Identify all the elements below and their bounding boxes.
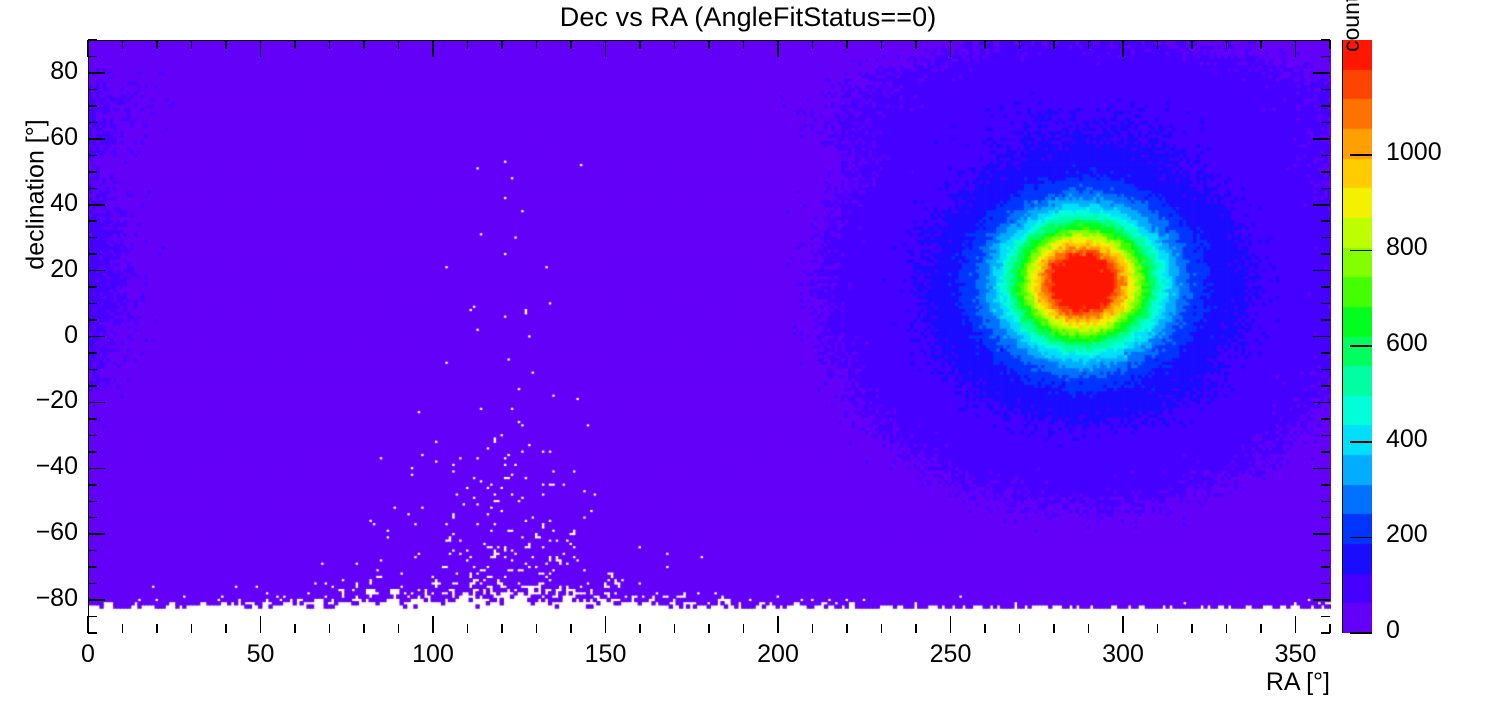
x-minor-tick bbox=[1157, 624, 1159, 633]
y-minor-tick-right bbox=[1321, 517, 1330, 519]
x-minor-tick bbox=[156, 624, 158, 633]
y-minor-tick-right bbox=[1321, 352, 1330, 354]
x-minor-tick bbox=[398, 624, 400, 633]
y-axis-label: −80 bbox=[8, 584, 78, 613]
y-minor-tick-right bbox=[1321, 237, 1330, 239]
x-minor-tick-top bbox=[225, 40, 227, 49]
x-minor-tick bbox=[191, 624, 193, 633]
y-minor-tick-right bbox=[1321, 253, 1330, 255]
x-minor-tick bbox=[743, 624, 745, 633]
x-minor-tick-top bbox=[1088, 40, 1090, 49]
x-minor-tick bbox=[1260, 624, 1262, 633]
x-axis-label: 300 bbox=[1063, 640, 1183, 669]
page-title: Dec vs RA (AngleFitStatus==0) bbox=[0, 2, 1496, 33]
x-axis-label: 250 bbox=[891, 640, 1011, 669]
x-minor-tick bbox=[708, 624, 710, 633]
y-minor-tick-right bbox=[1321, 220, 1330, 222]
colorbar-border bbox=[1342, 40, 1372, 633]
x-minor-tick-top bbox=[674, 40, 676, 49]
x-minor-tick-top bbox=[1329, 40, 1331, 49]
y-minor-tick bbox=[88, 122, 97, 124]
y-minor-tick bbox=[88, 39, 97, 41]
x-minor-tick-top bbox=[915, 40, 917, 49]
x-minor-tick-top bbox=[156, 40, 158, 49]
y-major-tick-right bbox=[1313, 204, 1330, 206]
y-major-tick-right bbox=[1313, 533, 1330, 535]
x-axis-label: 100 bbox=[373, 640, 493, 669]
x-minor-tick-top bbox=[294, 40, 296, 49]
x-major-tick bbox=[1295, 616, 1297, 633]
x-minor-tick bbox=[881, 624, 883, 633]
y-major-tick bbox=[88, 270, 105, 272]
y-minor-tick-right bbox=[1321, 566, 1330, 568]
x-major-tick bbox=[1122, 616, 1124, 633]
y-minor-tick-right bbox=[1321, 286, 1330, 288]
x-minor-tick-top bbox=[1053, 40, 1055, 49]
colorbar-label: 200 bbox=[1386, 520, 1428, 549]
x-minor-tick-top bbox=[122, 40, 124, 49]
y-minor-tick bbox=[88, 220, 97, 222]
y-minor-tick-right bbox=[1321, 632, 1330, 634]
x-minor-tick bbox=[812, 624, 814, 633]
x-axis-title: RA [°] bbox=[1150, 668, 1330, 697]
x-minor-tick-top bbox=[398, 40, 400, 49]
y-minor-tick bbox=[88, 566, 97, 568]
x-minor-tick-top bbox=[846, 40, 848, 49]
y-minor-tick-right bbox=[1321, 303, 1330, 305]
y-minor-tick bbox=[88, 155, 97, 157]
x-minor-tick bbox=[915, 624, 917, 633]
colorbar-tick bbox=[1350, 345, 1372, 347]
y-minor-tick-right bbox=[1321, 171, 1330, 173]
x-minor-tick-top bbox=[1019, 40, 1021, 49]
y-minor-tick bbox=[88, 632, 97, 634]
y-minor-tick bbox=[88, 369, 97, 371]
y-minor-tick bbox=[88, 583, 97, 585]
y-minor-tick bbox=[88, 89, 97, 91]
x-axis-label: 50 bbox=[201, 640, 321, 669]
y-minor-tick bbox=[88, 451, 97, 453]
x-minor-tick-top bbox=[708, 40, 710, 49]
y-minor-tick-right bbox=[1321, 122, 1330, 124]
y-minor-tick-right bbox=[1321, 105, 1330, 107]
y-minor-tick-right bbox=[1321, 369, 1330, 371]
x-minor-tick bbox=[674, 624, 676, 633]
x-minor-tick bbox=[570, 624, 572, 633]
x-minor-tick bbox=[984, 624, 986, 633]
y-minor-tick-right bbox=[1321, 435, 1330, 437]
x-major-tick-top bbox=[1295, 40, 1297, 57]
x-minor-tick-top bbox=[501, 40, 503, 49]
x-major-tick-top bbox=[950, 40, 952, 57]
y-minor-tick bbox=[88, 303, 97, 305]
x-minor-tick-top bbox=[570, 40, 572, 49]
x-axis-label: 350 bbox=[1236, 640, 1356, 669]
x-minor-tick-top bbox=[191, 40, 193, 49]
x-minor-tick bbox=[1019, 624, 1021, 633]
x-minor-tick bbox=[329, 624, 331, 633]
x-minor-tick bbox=[225, 624, 227, 633]
y-major-tick-right bbox=[1313, 138, 1330, 140]
y-minor-tick-right bbox=[1321, 550, 1330, 552]
y-minor-tick bbox=[88, 484, 97, 486]
y-minor-tick bbox=[88, 435, 97, 437]
x-minor-tick-top bbox=[812, 40, 814, 49]
y-major-tick bbox=[88, 204, 105, 206]
y-major-tick-right bbox=[1313, 336, 1330, 338]
x-minor-tick bbox=[846, 624, 848, 633]
x-major-tick-top bbox=[605, 40, 607, 57]
y-major-tick-right bbox=[1313, 599, 1330, 601]
x-axis-label: 0 bbox=[28, 640, 148, 669]
colorbar-tick bbox=[1350, 537, 1372, 539]
x-minor-tick-top bbox=[1260, 40, 1262, 49]
x-major-tick-top bbox=[432, 40, 434, 57]
y-minor-tick-right bbox=[1321, 385, 1330, 387]
x-minor-tick-top bbox=[1226, 40, 1228, 49]
y-minor-tick-right bbox=[1321, 484, 1330, 486]
x-minor-tick-top bbox=[881, 40, 883, 49]
colorbar bbox=[1342, 40, 1372, 633]
x-minor-tick-top bbox=[329, 40, 331, 49]
heatmap-canvas bbox=[89, 41, 1331, 634]
y-minor-tick bbox=[88, 171, 97, 173]
x-axis-label: 150 bbox=[546, 640, 666, 669]
x-major-tick bbox=[950, 616, 952, 633]
y-major-tick bbox=[88, 533, 105, 535]
colorbar-label: 1000 bbox=[1386, 138, 1442, 167]
colorbar-title: count bbox=[1338, 0, 1365, 52]
y-axis-label: −20 bbox=[8, 386, 78, 415]
y-axis-label: −40 bbox=[8, 452, 78, 481]
y-minor-tick bbox=[88, 616, 97, 618]
x-minor-tick bbox=[536, 624, 538, 633]
x-minor-tick bbox=[1088, 624, 1090, 633]
colorbar-label: 0 bbox=[1386, 616, 1400, 645]
x-minor-tick-top bbox=[1157, 40, 1159, 49]
y-major-tick bbox=[88, 402, 105, 404]
x-major-tick-top bbox=[260, 40, 262, 57]
y-minor-tick bbox=[88, 550, 97, 552]
x-minor-tick bbox=[501, 624, 503, 633]
colorbar-tick bbox=[1350, 632, 1372, 634]
y-minor-tick bbox=[88, 352, 97, 354]
x-major-tick-top bbox=[87, 40, 89, 57]
x-minor-tick-top bbox=[639, 40, 641, 49]
y-minor-tick bbox=[88, 418, 97, 420]
y-major-tick-right bbox=[1313, 270, 1330, 272]
colorbar-tick bbox=[1350, 154, 1372, 156]
plot-frame bbox=[88, 40, 1330, 633]
x-minor-tick bbox=[1053, 624, 1055, 633]
y-minor-tick bbox=[88, 253, 97, 255]
colorbar-label: 400 bbox=[1386, 425, 1428, 454]
y-minor-tick-right bbox=[1321, 319, 1330, 321]
x-major-tick-top bbox=[777, 40, 779, 57]
y-minor-tick bbox=[88, 237, 97, 239]
x-major-tick bbox=[605, 616, 607, 633]
y-major-tick-right bbox=[1313, 72, 1330, 74]
x-minor-tick bbox=[363, 624, 365, 633]
y-minor-tick-right bbox=[1321, 56, 1330, 58]
x-minor-tick-top bbox=[363, 40, 365, 49]
x-minor-tick bbox=[294, 624, 296, 633]
y-minor-tick bbox=[88, 501, 97, 503]
y-major-tick-right bbox=[1313, 468, 1330, 470]
colorbar-tick bbox=[1350, 250, 1372, 252]
colorbar-tick bbox=[1350, 441, 1372, 443]
y-major-tick bbox=[88, 468, 105, 470]
y-axis-title: declination [°] bbox=[22, 55, 51, 335]
colorbar-label: 800 bbox=[1386, 233, 1428, 262]
x-major-tick bbox=[87, 616, 89, 633]
y-axis-label: −60 bbox=[8, 518, 78, 547]
y-minor-tick-right bbox=[1321, 451, 1330, 453]
y-minor-tick bbox=[88, 105, 97, 107]
y-minor-tick-right bbox=[1321, 418, 1330, 420]
colorbar-label: 600 bbox=[1386, 329, 1428, 358]
y-minor-tick-right bbox=[1321, 89, 1330, 91]
x-minor-tick-top bbox=[1191, 40, 1193, 49]
x-minor-tick-top bbox=[536, 40, 538, 49]
x-major-tick bbox=[777, 616, 779, 633]
x-minor-tick bbox=[1226, 624, 1228, 633]
x-minor-tick-top bbox=[984, 40, 986, 49]
y-minor-tick bbox=[88, 286, 97, 288]
x-major-tick bbox=[260, 616, 262, 633]
y-major-tick bbox=[88, 72, 105, 74]
y-minor-tick-right bbox=[1321, 616, 1330, 618]
y-major-tick bbox=[88, 138, 105, 140]
y-minor-tick-right bbox=[1321, 188, 1330, 190]
y-minor-tick-right bbox=[1321, 501, 1330, 503]
x-minor-tick bbox=[122, 624, 124, 633]
y-minor-tick bbox=[88, 188, 97, 190]
x-axis-label: 200 bbox=[718, 640, 838, 669]
chart-canvas-root: Dec vs RA (AngleFitStatus==0) 0501001502… bbox=[0, 0, 1496, 722]
x-minor-tick bbox=[639, 624, 641, 633]
y-minor-tick bbox=[88, 517, 97, 519]
x-minor-tick-top bbox=[743, 40, 745, 49]
y-minor-tick bbox=[88, 385, 97, 387]
y-minor-tick bbox=[88, 56, 97, 58]
x-minor-tick-top bbox=[467, 40, 469, 49]
x-minor-tick bbox=[1191, 624, 1193, 633]
y-major-tick bbox=[88, 599, 105, 601]
y-minor-tick-right bbox=[1321, 155, 1330, 157]
y-major-tick bbox=[88, 336, 105, 338]
y-minor-tick-right bbox=[1321, 39, 1330, 41]
y-minor-tick bbox=[88, 319, 97, 321]
x-major-tick-top bbox=[1122, 40, 1124, 57]
y-minor-tick-right bbox=[1321, 583, 1330, 585]
y-major-tick-right bbox=[1313, 402, 1330, 404]
x-minor-tick bbox=[467, 624, 469, 633]
x-major-tick bbox=[432, 616, 434, 633]
